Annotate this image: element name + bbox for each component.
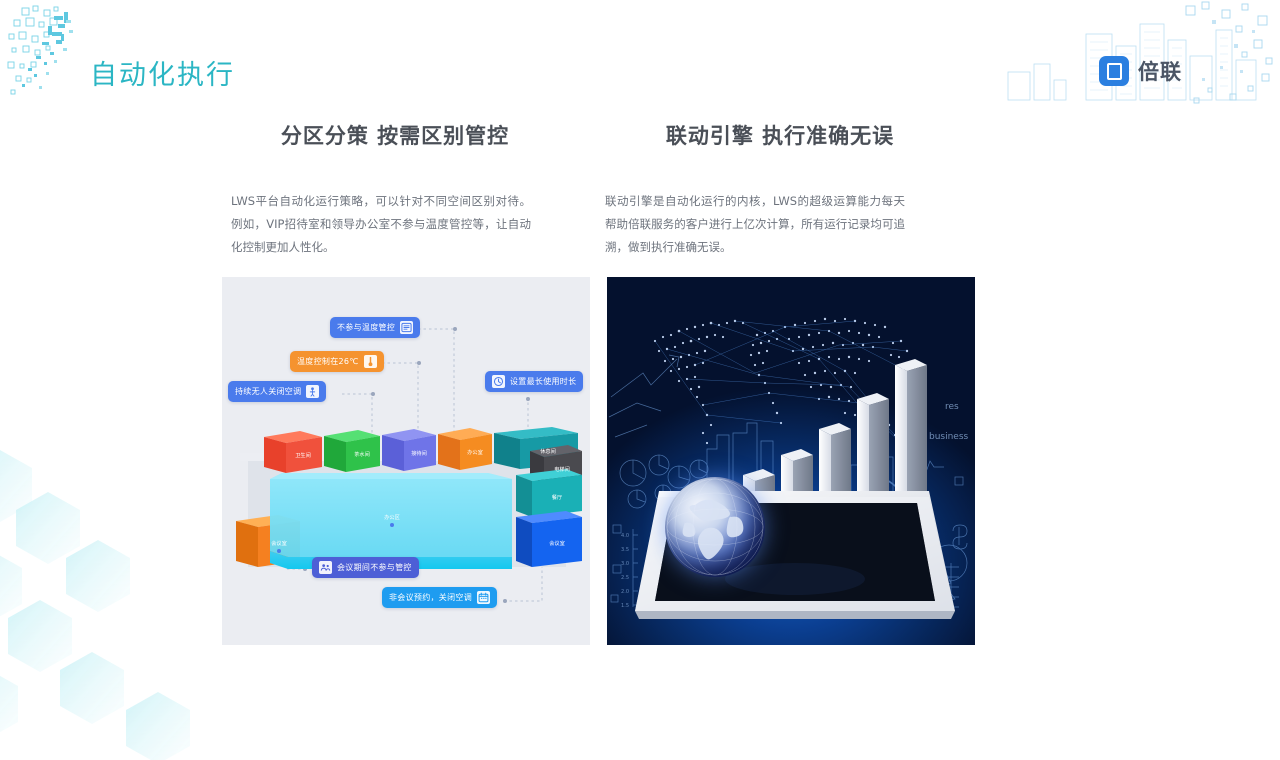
room-label: 办公室: [467, 448, 483, 456]
column-right-heading: 联动引擎 执行准确无误: [605, 120, 955, 150]
chip-label: 设置最长使用时长: [510, 376, 576, 387]
timer-icon: [492, 375, 505, 388]
chip-label: 非会议预约，关闭空调: [389, 592, 472, 603]
thermometer-icon: [364, 355, 377, 368]
chip-no-temperature-control[interactable]: 不参与温度管控: [330, 317, 420, 338]
axis-tick: 3.5: [621, 547, 629, 553]
column-left: 分区分策 按需区别管控 LWS平台自动化运行策略，可以针对不同空间区别对待。例如…: [225, 120, 575, 259]
axis-tick: 2.5: [621, 575, 629, 581]
column-left-body: LWS平台自动化运行策略，可以针对不同空间区别对待。例如，VIP招待室和领导办公…: [231, 190, 531, 259]
brand-logo: 倍联: [1099, 56, 1182, 86]
room-label: 接待间: [411, 449, 427, 457]
chip-meeting-exempt[interactable]: 会议期间不参与管控: [312, 557, 419, 578]
room-label: 餐厅: [552, 493, 562, 501]
chip-label: 温度控制在26℃: [297, 356, 359, 367]
axis-tick: 4.0: [621, 533, 629, 539]
global-data-image-panel: res business 4.0 3.5 3.0 2.5 2.0 1.5: [607, 277, 975, 645]
chip-max-usage-duration[interactable]: 设置最长使用时长: [485, 371, 583, 392]
room-label: 茶水间: [354, 450, 370, 458]
room-label: 电梯间: [554, 465, 570, 473]
axis-tick: 2.0: [621, 589, 629, 595]
column-right: 联动引擎 执行准确无误 联动引擎是自动化运行的内核，LWS的超级运算能力每天帮助…: [605, 120, 955, 259]
column-right-body: 联动引擎是自动化运行的内核，LWS的超级运算能力每天帮助倍联服务的客户进行上亿次…: [605, 190, 905, 259]
page-title: 自动化执行: [90, 53, 235, 92]
chip-no-booking-shutdown[interactable]: 非会议预约，关闭空调: [382, 587, 497, 608]
column-left-heading: 分区分策 按需区别管控: [225, 120, 575, 150]
pixel-mosaic-decoration: [6, 4, 96, 104]
axis-tick: 1.5: [621, 603, 629, 609]
axis-tick: 3.0: [621, 561, 629, 567]
room-label: 会议室: [271, 539, 287, 547]
chip-label: 会议期间不参与管控: [337, 562, 412, 573]
room-label: 卫生间: [295, 451, 311, 459]
sketch-label: res: [945, 402, 959, 412]
globe-graphic: [665, 477, 765, 577]
chip-label: 持续无人关闭空调: [235, 386, 301, 397]
room-label: 休息间: [540, 447, 556, 455]
logo-square-icon: [1099, 56, 1129, 86]
isometric-floorplan: 卫生间 茶水间 接待间 办公室 休息间 电梯间 餐厅 会议室 会议室 办公区: [230, 417, 582, 607]
chip-auto-off-when-empty[interactable]: 持续无人关闭空调: [228, 381, 326, 402]
logo-text: 倍联: [1138, 56, 1182, 86]
floorplan-illustration-panel: 卫生间 茶水间 接待间 办公室 休息间 电梯间 餐厅 会议室 会议室 办公区 不…: [222, 277, 590, 645]
hexagon-pattern-decoration: [0, 430, 230, 760]
cyan-ribbon-decoration: [0, 450, 140, 750]
chip-temperature-26[interactable]: 温度控制在26℃: [290, 351, 384, 372]
room-label: 办公区: [384, 513, 400, 521]
motion-sensor-icon: [306, 385, 319, 398]
list-card-icon: [400, 321, 413, 334]
chip-label: 不参与温度管控: [337, 322, 395, 333]
city-skyline-decoration: [990, 0, 1280, 110]
meeting-icon: [319, 561, 332, 574]
calendar-icon: [477, 591, 490, 604]
room-label: 会议室: [549, 539, 565, 547]
